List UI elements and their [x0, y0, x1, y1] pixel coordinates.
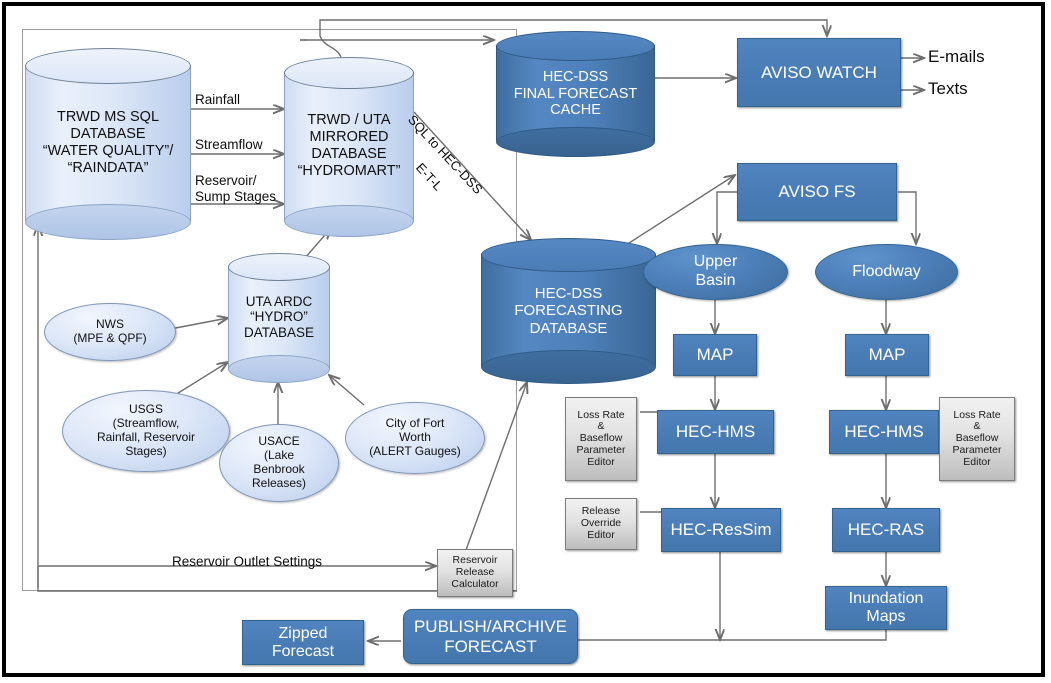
publish-archive-forecast-box[interactable]: PUBLISH/ARCHIVE FORECAST	[403, 609, 578, 664]
source-usace-label: USACE (Lake Benbrook Releases)	[252, 435, 306, 491]
branch-floodway[interactable]: Floodway	[815, 244, 958, 300]
upper-basin-map-label: MAP	[697, 345, 734, 364]
floodway-hec-hms-label: HEC-HMS	[844, 422, 923, 441]
floodway-map-label: MAP	[869, 345, 906, 364]
aviso-fs-label: AVISO FS	[778, 182, 855, 201]
upper-basin-hec-hms-label: HEC-HMS	[676, 422, 755, 441]
aviso-fs-box[interactable]: AVISO FS	[737, 163, 897, 221]
edge-label-rainfall: Rainfall	[195, 92, 240, 107]
edge-label-reservoir-sump-stages: Reservoir/ Sump Stages	[195, 173, 276, 205]
aviso-watch-box[interactable]: AVISO WATCH	[737, 38, 901, 107]
publish-archive-forecast-label: PUBLISH/ARCHIVE FORECAST	[414, 617, 567, 655]
source-nws[interactable]: NWS (MPE & QPF)	[44, 303, 176, 361]
db-hydromart-label: TRWD / UTA MIRRORED DATABASE “HYDROMART”	[284, 87, 414, 205]
reservoir-release-calculator-box[interactable]: Reservoir Release Calculator	[437, 549, 513, 597]
branch-upper-basin-label: Upper Basin	[694, 253, 738, 290]
zipped-forecast-box[interactable]: Zipped Forecast	[242, 620, 364, 665]
floodway-loss-rate-baseflow-editor-label: Loss Rate & Baseflow Parameter Editor	[952, 410, 1001, 469]
upper-basin-release-override-editor-label: Release Override Editor	[581, 506, 621, 541]
zipped-forecast-label: Zipped Forecast	[272, 625, 334, 661]
upper-basin-hec-ressim-label: HEC-ResSim	[670, 520, 771, 539]
floodway-hec-hms-box[interactable]: HEC-HMS	[829, 410, 939, 454]
db-hec-dss-forecasting-label: HEC-DSS FORECASTING DATABASE	[481, 268, 656, 354]
db-trwd-ms-sql-label: TRWD MS SQL DATABASE “WATER QUALITY”/ “R…	[25, 82, 191, 204]
output-texts-label: Texts	[928, 79, 968, 99]
source-nws-label: NWS (MPE & QPF)	[73, 318, 146, 346]
output-emails-label: E-mails	[928, 47, 985, 67]
db-hec-dss-forecasting[interactable]: HEC-DSS FORECASTING DATABASE	[481, 238, 656, 382]
edge-label-reservoir-outlet-settings: Reservoir Outlet Settings	[172, 554, 322, 569]
source-usace[interactable]: USACE (Lake Benbrook Releases)	[219, 424, 339, 502]
reservoir-release-calculator-label: Reservoir Release Calculator	[451, 555, 498, 590]
edge-label-streamflow: Streamflow	[195, 137, 263, 152]
floodway-inundation-maps-label: Inundation Maps	[849, 590, 924, 626]
floodway-map-box[interactable]: MAP	[845, 334, 929, 376]
branch-upper-basin[interactable]: Upper Basin	[643, 244, 788, 300]
db-hec-dss-final-forecast-cache[interactable]: HEC-DSS FINAL FORECAST CACHE	[496, 31, 655, 155]
floodway-inundation-maps-box[interactable]: Inundation Maps	[825, 586, 947, 630]
db-uta-ardc-hydro[interactable]: UTA ARDC “HYDRO” DATABASE	[228, 253, 330, 381]
aviso-watch-label: AVISO WATCH	[761, 63, 877, 82]
upper-basin-hec-ressim-box[interactable]: HEC-ResSim	[661, 508, 781, 552]
db-hec-dss-final-forecast-cache-label: HEC-DSS FINAL FORECAST CACHE	[496, 57, 655, 131]
upper-basin-release-override-editor[interactable]: Release Override Editor	[565, 498, 637, 550]
source-city-of-fort-worth[interactable]: City of Fort Worth (ALERT Gauges)	[345, 402, 485, 474]
upper-basin-map-box[interactable]: MAP	[673, 334, 757, 376]
db-hydromart[interactable]: TRWD / UTA MIRRORED DATABASE “HYDROMART”	[284, 57, 414, 235]
upper-basin-loss-rate-baseflow-editor[interactable]: Loss Rate & Baseflow Parameter Editor	[565, 397, 637, 481]
floodway-loss-rate-baseflow-editor[interactable]: Loss Rate & Baseflow Parameter Editor	[939, 397, 1015, 481]
source-usgs-label: USGS (Streamflow, Rainfall, Reservoir St…	[97, 403, 195, 459]
flow-diagram-canvas: TRWD MS SQL DATABASE “WATER QUALITY”/ “R…	[0, 0, 1051, 683]
floodway-hec-ras-label: HEC-RAS	[848, 520, 925, 539]
upper-basin-hec-hms-box[interactable]: HEC-HMS	[657, 410, 774, 454]
db-trwd-ms-sql[interactable]: TRWD MS SQL DATABASE “WATER QUALITY”/ “R…	[25, 48, 191, 238]
floodway-hec-ras-box[interactable]: HEC-RAS	[832, 508, 940, 552]
upper-basin-loss-rate-baseflow-editor-label: Loss Rate & Baseflow Parameter Editor	[576, 410, 625, 469]
branch-floodway-label: Floodway	[852, 263, 920, 282]
source-city-of-fort-worth-label: City of Fort Worth (ALERT Gauges)	[369, 417, 461, 459]
db-uta-ardc-hydro-label: UTA ARDC “HYDRO” DATABASE	[228, 279, 330, 355]
source-usgs[interactable]: USGS (Streamflow, Rainfall, Reservoir St…	[62, 390, 230, 472]
